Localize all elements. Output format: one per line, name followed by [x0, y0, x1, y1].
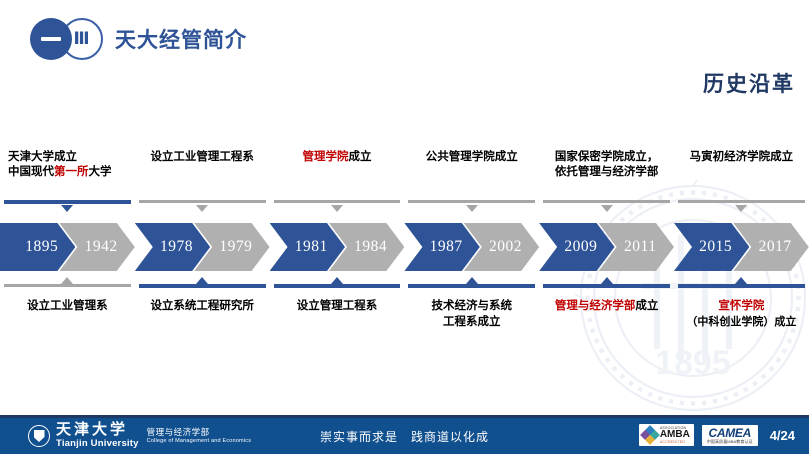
timeline-top-labels: 天津大学成立中国现代第一所大学设立工业管理工程系管理学院成立公共管理学院成立国家…: [0, 150, 809, 196]
timeline-bottom-connector: [270, 276, 405, 294]
timeline-year-label: 2017: [751, 238, 792, 256]
slide-footer: 天津大学 Tianjin University 管理与经济学部 College …: [0, 418, 809, 454]
connector-line: [274, 284, 401, 288]
connector-line: [408, 200, 535, 203]
amba-diamond-icon: [640, 425, 660, 445]
camea-name: CAMEA: [709, 427, 752, 439]
caret-up-icon: [735, 277, 747, 284]
camea-logo: CAMEA 中国高质量MBA教育认证: [702, 425, 758, 446]
badge-dash-icon: [41, 37, 61, 41]
connector-line: [4, 284, 131, 287]
connector-line: [4, 200, 131, 204]
timeline-year-chevron: 2009: [539, 223, 614, 271]
amba-logo: ASSOCIATION AMBA ACCREDITED: [639, 424, 694, 446]
caret-down-icon: [735, 205, 747, 212]
timeline-year-label: 1895: [17, 238, 58, 256]
timeline-year-label: 1984: [346, 238, 387, 256]
timeline-group: 19811984: [270, 223, 405, 271]
timeline-bottom-rules: [0, 276, 809, 294]
timeline-year-chevron: 2015: [674, 223, 749, 271]
timeline-group: 18951942: [0, 223, 135, 271]
timeline-bottom-connector: [404, 276, 539, 294]
timeline-top-connector: [539, 200, 674, 218]
history-timeline: 天津大学成立中国现代第一所大学设立工业管理工程系管理学院成立公共管理学院成立国家…: [0, 150, 809, 390]
amba-name: AMBA: [660, 430, 690, 440]
timeline-bottom-connector: [539, 276, 674, 294]
timeline-top-connector: [674, 200, 809, 218]
timeline-top-label: 公共管理学院成立: [404, 150, 539, 165]
timeline-top-connector: [0, 200, 135, 218]
timeline-bottom-labels: 设立工业管理系设立系统工程研究所设立管理工程系技术经济与系统工程系成立管理与经济…: [0, 298, 809, 362]
section-badge-title: 天大经管简介: [115, 24, 247, 54]
connector-line: [543, 284, 670, 288]
timeline-year-chevron: 1987: [404, 223, 479, 271]
caret-down-icon: [196, 205, 208, 212]
connector-line: [543, 200, 670, 203]
caret-down-icon: [331, 205, 343, 212]
timeline-bottom-connector: [135, 276, 270, 294]
timeline-top-label: 天津大学成立中国现代第一所大学: [0, 150, 135, 180]
timeline-group: 20092011: [539, 223, 674, 271]
page-number: 4/24: [770, 428, 795, 443]
timeline-top-label: 管理学院成立: [270, 150, 405, 165]
timeline-bottom-label: 管理与经济学部成立: [539, 298, 674, 314]
page-title: 历史沿革: [703, 68, 795, 98]
timeline-bottom-label: 设立工业管理系: [0, 298, 135, 314]
timeline-year-label: 1978: [152, 238, 193, 256]
timeline-group: 19781979: [135, 223, 270, 271]
timeline-top-rules: [0, 200, 809, 218]
timeline-top-label: 国家保密学院成立，依托管理与经济学部: [539, 150, 674, 180]
caret-down-icon: [61, 205, 73, 212]
timeline-bottom-connector: [0, 276, 135, 294]
timeline-top-connector: [135, 200, 270, 218]
timeline-group: 19872002: [404, 223, 539, 271]
connector-line: [678, 200, 805, 203]
caret-up-icon: [61, 277, 73, 284]
timeline-year-label: 1987: [422, 238, 463, 256]
timeline-bottom-connector: [674, 276, 809, 294]
caret-up-icon: [466, 277, 478, 284]
badge-roman-icon: Ⅲ: [73, 29, 90, 49]
camea-sub: 中国高质量MBA教育认证: [707, 439, 753, 444]
timeline-top-connector: [270, 200, 405, 218]
caret-up-icon: [601, 277, 613, 284]
badge-number-circle: [30, 18, 72, 60]
connector-line: [408, 284, 535, 288]
timeline-bottom-label: 宣怀学院（中科创业学院）成立: [674, 298, 809, 330]
caret-down-icon: [466, 205, 478, 212]
amba-bottom-text: ACCREDITED: [660, 440, 690, 444]
connector-line: [274, 200, 401, 203]
timeline-year-chevron: 1895: [0, 223, 75, 271]
timeline-bottom-label: 设立管理工程系: [270, 298, 405, 314]
timeline-top-connector: [404, 200, 539, 218]
timeline-year-label: 1942: [77, 238, 118, 256]
timeline-year-label: 2011: [616, 238, 656, 256]
timeline-bottom-label: 设立系统工程研究所: [135, 298, 270, 314]
timeline-top-label: 设立工业管理工程系: [135, 150, 270, 165]
section-badge: Ⅲ 天大经管简介: [30, 18, 247, 60]
timeline-year-chevron: 1978: [135, 223, 210, 271]
connector-line: [678, 284, 805, 288]
slide-canvas: 1895 · Ⅲ 天大经管简介 历史沿革 天津大学成立中国现代第一所大学设立工业: [0, 0, 809, 454]
timeline-year-chevrons: 1895194219781979198119841987200220092011…: [0, 223, 809, 271]
footer-divider: [0, 415, 809, 418]
connector-line: [139, 200, 266, 203]
timeline-year-label: 2002: [481, 238, 522, 256]
timeline-year-label: 2015: [691, 238, 732, 256]
timeline-year-chevron: 1981: [270, 223, 345, 271]
timeline-group: 20152017: [674, 223, 809, 271]
timeline-year-label: 2009: [556, 238, 597, 256]
timeline-year-label: 1981: [287, 238, 328, 256]
timeline-top-label: 马寅初经济学院成立: [674, 150, 809, 165]
caret-up-icon: [331, 277, 343, 284]
footer-accreditation: ASSOCIATION AMBA ACCREDITED CAMEA 中国高质量M…: [639, 424, 795, 446]
connector-line: [139, 284, 266, 288]
timeline-bottom-label: 技术经济与系统工程系成立: [404, 298, 539, 330]
caret-up-icon: [196, 277, 208, 284]
caret-down-icon: [601, 205, 613, 212]
timeline-year-label: 1979: [211, 238, 252, 256]
